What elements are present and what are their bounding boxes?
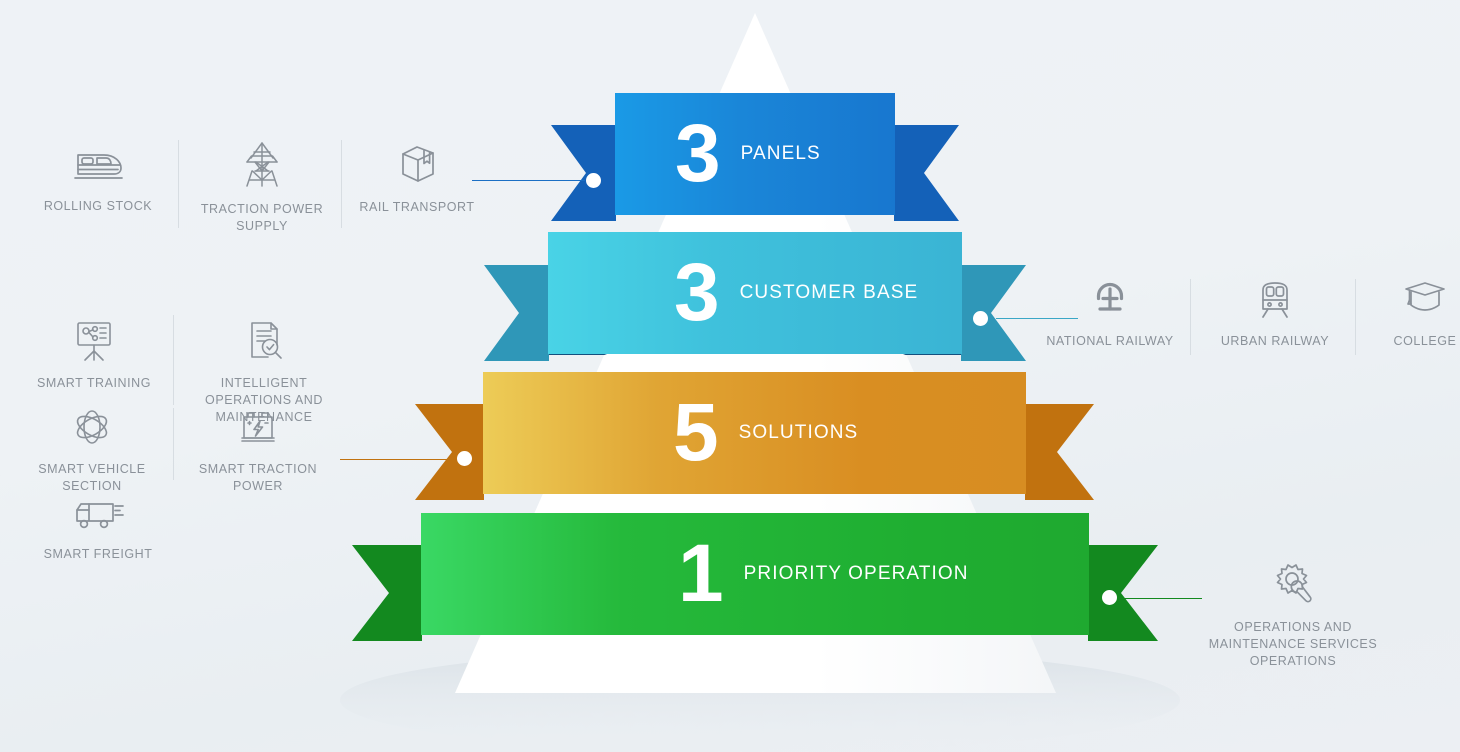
label-item-om-services[interactable]: OPERATIONS AND MAINTENANCE SERVICES OPER… [1188,560,1398,670]
label-text: RAIL TRANSPORT [350,199,484,216]
presentation-board-icon [20,318,168,369]
cargo-box-icon [350,140,484,193]
label-text: NATIONAL RAILWAY [1035,333,1185,350]
label-text: COLLEGE [1365,333,1460,350]
high-speed-train-icon [18,143,178,192]
label-text: ROLLING STOCK [18,198,178,215]
document-search-icon [182,318,346,369]
label-item-college[interactable]: COLLEGE [1365,278,1460,350]
label-item-smart-vehicle-section[interactable]: SMART VEHICLE SECTION [14,404,170,495]
divider [178,140,179,228]
divider [341,140,342,228]
label-item-smart-training[interactable]: SMART TRAINING [20,318,168,392]
graduation-cap-icon [1365,278,1460,327]
battery-bolt-icon [180,404,336,455]
label-item-national-railway[interactable]: NATIONAL RAILWAY [1035,278,1185,350]
label-item-rolling-stock[interactable]: ROLLING STOCK [18,143,178,215]
divider [1355,279,1356,355]
label-item-smart-freight[interactable]: SMART FREIGHT [20,495,176,563]
national-railway-emblem-icon [1035,278,1185,327]
label-item-smart-traction-power[interactable]: SMART TRACTION POWER [180,404,336,495]
label-text: SMART FREIGHT [20,546,176,563]
ribbon-tail-left [352,545,422,641]
label-item-traction-power-supply[interactable]: TRACTION POWER SUPPLY [188,140,336,235]
label-text: URBAN RAILWAY [1202,333,1348,350]
divider [1190,279,1191,355]
label-text: SMART VEHICLE SECTION [14,461,170,495]
gear-wrench-icon [1188,560,1398,613]
label-text: OPERATIONS AND MAINTENANCE SERVICES OPER… [1188,619,1398,670]
infographic-canvas: 3 PANELS 3 CUSTOMER BASE [0,0,1460,752]
label-item-urban-railway[interactable]: URBAN RAILWAY [1202,278,1348,350]
ribbon-tail-right [1088,545,1158,641]
label-text: SMART TRAINING [20,375,168,392]
label-text: SMART TRACTION POWER [180,461,336,495]
delivery-truck-icon [20,495,176,540]
power-pylon-icon [188,140,336,195]
label-text: TRACTION POWER SUPPLY [188,201,336,235]
divider [173,408,174,480]
connector-dot-priority [1102,590,1117,605]
atom-icon [14,404,170,455]
metro-train-icon [1202,278,1348,327]
band-front-panel [421,513,1089,635]
label-item-rail-transport[interactable]: RAIL TRANSPORT [350,140,484,216]
divider [173,315,174,405]
